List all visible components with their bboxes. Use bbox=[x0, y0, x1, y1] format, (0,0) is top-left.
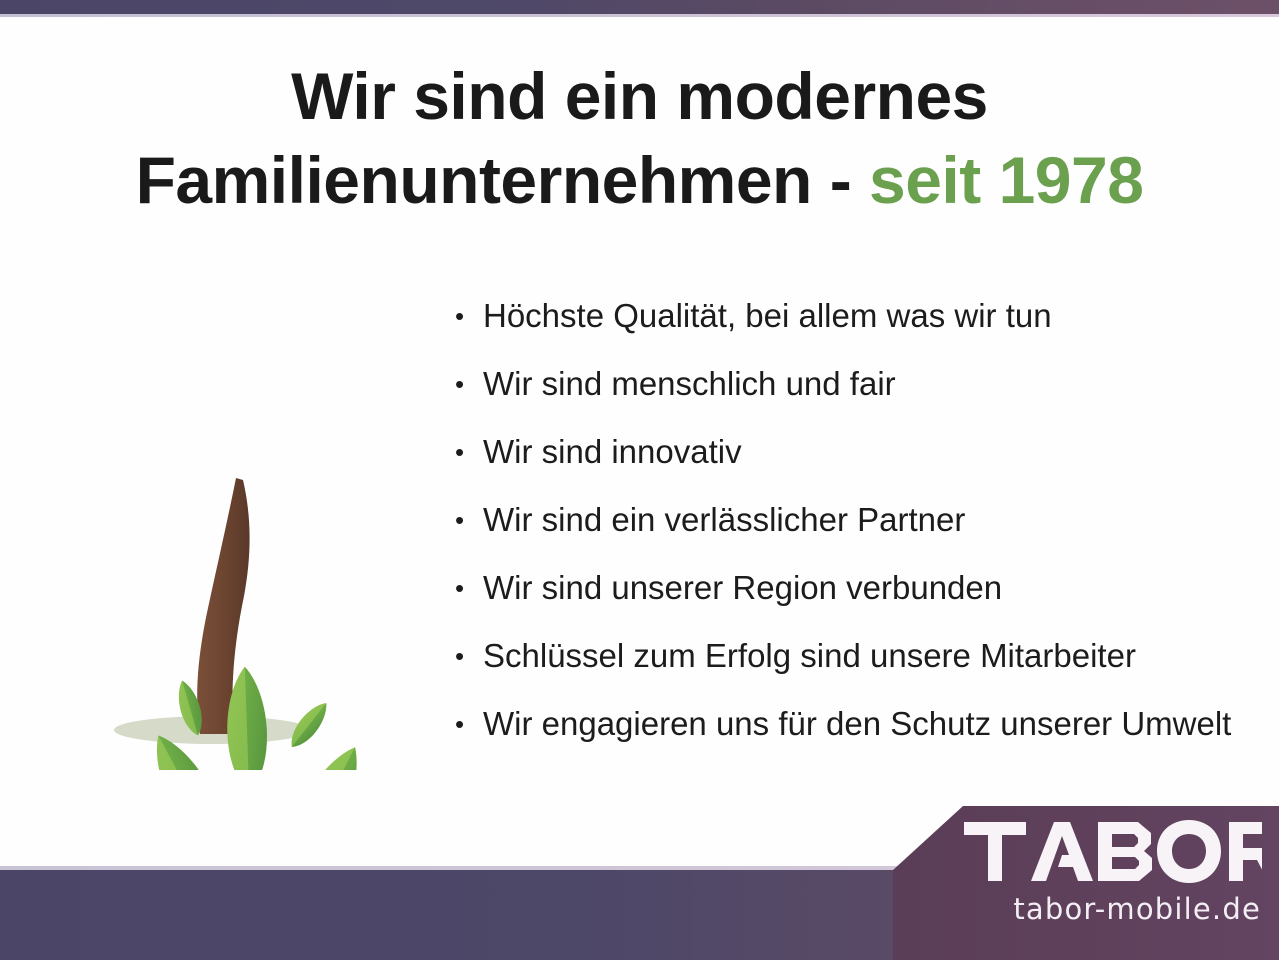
tree-illustration bbox=[22, 330, 442, 770]
list-item-label: Wir sind unserer Region verbunden bbox=[483, 570, 1265, 606]
list-item-label: Höchste Qualität, bei allem was wir tun bbox=[483, 298, 1265, 334]
headline-accent-since: seit 1978 bbox=[869, 143, 1143, 217]
brand-logo-block: tabor-mobile.de bbox=[880, 800, 1279, 960]
feature-bullet-list: • Höchste Qualität, bei allem was wir tu… bbox=[455, 298, 1265, 774]
slide-canvas: Wir sind ein modernes Familienunternehme… bbox=[0, 0, 1279, 960]
list-item-label: Wir engagieren uns für den Schutz unsere… bbox=[483, 706, 1265, 742]
bullet-marker-icon: • bbox=[455, 502, 483, 538]
top-accent-underline bbox=[0, 14, 1279, 17]
list-item: • Schlüssel zum Erfolg sind unsere Mitar… bbox=[455, 638, 1265, 706]
bullet-marker-icon: • bbox=[455, 570, 483, 606]
list-item: • Wir sind unserer Region verbunden bbox=[455, 570, 1265, 638]
brand-url: tabor-mobile.de bbox=[880, 892, 1279, 926]
list-item-label: Wir sind menschlich und fair bbox=[483, 366, 1265, 402]
top-accent-bar bbox=[0, 0, 1279, 14]
headline-line-2: Familienunternehmen - seit 1978 bbox=[0, 138, 1279, 222]
bullet-marker-icon: • bbox=[455, 366, 483, 402]
bullet-marker-icon: • bbox=[455, 706, 483, 742]
bullet-marker-icon: • bbox=[455, 298, 483, 334]
list-item: • Höchste Qualität, bei allem was wir tu… bbox=[455, 298, 1265, 366]
bullet-marker-icon: • bbox=[455, 638, 483, 674]
headline-line-1: Wir sind ein modernes bbox=[0, 54, 1279, 138]
list-item: • Wir sind innovativ bbox=[455, 434, 1265, 502]
bullet-marker-icon: • bbox=[455, 434, 483, 470]
list-item: • Wir sind menschlich und fair bbox=[455, 366, 1265, 434]
page-title: Wir sind ein modernes Familienunternehme… bbox=[0, 54, 1279, 223]
list-item: • Wir sind ein verlässlicher Partner bbox=[455, 502, 1265, 570]
list-item-label: Wir sind innovativ bbox=[483, 434, 1265, 470]
tabor-wordmark-icon bbox=[962, 818, 1262, 884]
headline-line-2-plain: Familienunternehmen - bbox=[136, 143, 869, 217]
list-item-label: Wir sind ein verlässlicher Partner bbox=[483, 502, 1265, 538]
tree-icon bbox=[22, 330, 442, 770]
list-item-label: Schlüssel zum Erfolg sind unsere Mitarbe… bbox=[483, 638, 1265, 674]
list-item: • Wir engagieren uns für den Schutz unse… bbox=[455, 706, 1265, 774]
